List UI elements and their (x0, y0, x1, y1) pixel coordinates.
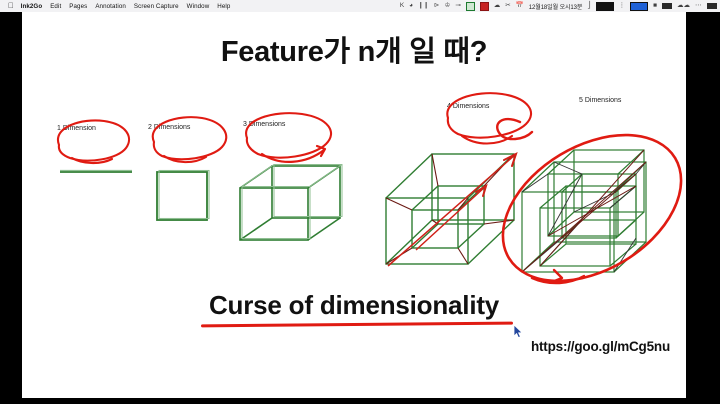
conclusion-text: Curse of dimensionality (209, 290, 499, 321)
green-line-shape (60, 170, 132, 172)
conclusion-wrap: Curse of dimensionality (22, 290, 686, 321)
menu-bar-clock[interactable]: 12월18일월 오시13분 (529, 2, 583, 11)
shuffle-icon[interactable]: ⊸ (455, 3, 460, 10)
red-circle-annotation-2d (153, 117, 227, 162)
calendar-icon[interactable]: 📅 (516, 3, 524, 10)
red-circle-annotation-3d (246, 113, 331, 162)
bluetooth-icon[interactable]: ⎦ (587, 3, 590, 10)
cloud-icon[interactable]: ☁ (494, 3, 501, 10)
scissors-icon[interactable]: ✂ (505, 3, 510, 10)
menu-item-ink2go[interactable]: Ink2Go (21, 3, 43, 10)
green-app-icon[interactable] (466, 2, 475, 11)
letterbox-bottom (0, 398, 720, 404)
figure-3d (222, 108, 382, 248)
separator-icon: ⋮ (619, 3, 626, 10)
menu-item-screen-capture[interactable]: Screen Capture (134, 3, 179, 10)
battery-icon[interactable] (596, 2, 614, 11)
menu-item-edit[interactable]: Edit (50, 3, 61, 10)
reference-url[interactable]: https://goo.gl/mCg5nu (531, 339, 670, 354)
conclusion-label: Curse of dimensionality (209, 290, 499, 320)
page-title: Feature가 n개 일 때? (22, 28, 686, 70)
figure-5d (492, 100, 686, 300)
red-underline-annotation (201, 322, 513, 328)
skip-icon[interactable]: ⊳ (434, 3, 439, 10)
slide-canvas[interactable]: Feature가 n개 일 때? 1 Dimension 2 Dimension… (22, 12, 686, 398)
pause-icon[interactable]: ❙❙ (418, 3, 429, 10)
clock-icon[interactable]: ◕ (409, 3, 413, 10)
notification-icon[interactable]: ⋯ (695, 3, 702, 10)
screen:  Ink2Go Edit Pages Annotation Screen Ca… (0, 0, 720, 404)
red-circle-annotation-1d (58, 120, 129, 163)
input-source-icon[interactable]: ■ (653, 3, 657, 10)
menu-item-help[interactable]: Help (217, 3, 230, 10)
volume-icon[interactable] (630, 2, 648, 11)
keyboard-k-icon[interactable]: K (400, 3, 404, 10)
spotlight-icon[interactable] (707, 3, 717, 9)
cloud-sync-icon[interactable]: ☁☁ (677, 3, 690, 10)
menu-item-pages[interactable]: Pages (69, 3, 87, 10)
apple-icon[interactable]:  (8, 2, 14, 10)
arrow-cursor-icon (513, 325, 525, 339)
green-square-shape (157, 171, 209, 221)
menu-item-window[interactable]: Window (187, 3, 210, 10)
antenna-icon[interactable]: ♔ (444, 3, 450, 10)
menu-item-annotation[interactable]: Annotation (95, 3, 126, 10)
red-record-icon[interactable] (480, 2, 489, 11)
menu-bar:  Ink2Go Edit Pages Annotation Screen Ca… (0, 0, 720, 12)
wifi-icon[interactable] (662, 3, 672, 9)
menu-bar-status-area: K ◕ ❙❙ ⊳ ♔ ⊸ ☁ ✂ 📅 12월18일월 오시13분 ⎦ ⋮ ■ ☁… (400, 2, 720, 11)
presentation-stage: Feature가 n개 일 때? 1 Dimension 2 Dimension… (0, 12, 720, 404)
